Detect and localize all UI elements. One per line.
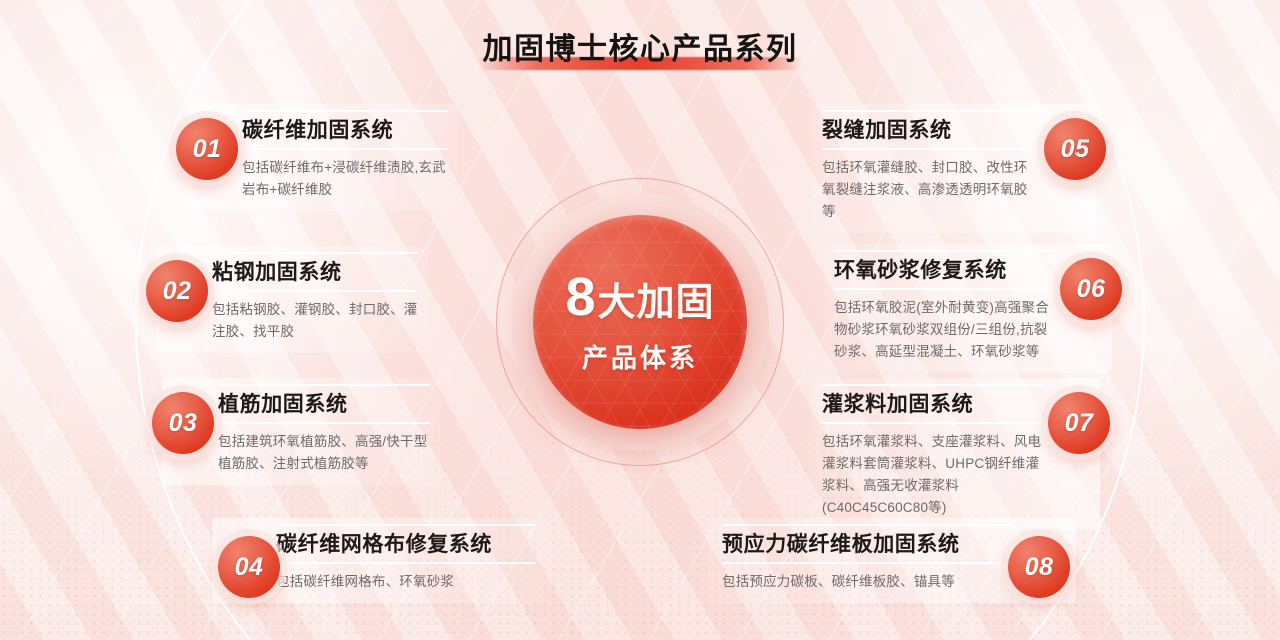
item-title: 环氧砂浆修复系统 <box>834 258 1056 283</box>
item-title: 碳纤维网格布修复系统 <box>276 532 536 557</box>
medallion-headline: 8 大加固 <box>565 270 714 324</box>
product-item-07[interactable]: 07 灌浆料加固系统 包括环氧灌浆料、支座灌浆料、风电灌浆料套筒灌浆料、UHPC… <box>812 378 1100 529</box>
product-item-08[interactable]: 08 预应力碳纤维板加固系统 包括预应力碳板、碳纤维板胶、锚具等 <box>706 518 1076 603</box>
item-description: 包括环氧灌缝胶、封口胶、改性环氧裂缝注浆液、高渗透透明环氧胶等 <box>822 157 1040 223</box>
item-divider-top <box>822 110 1040 112</box>
item-divider-bottom <box>822 148 1040 150</box>
infographic-canvas: 加固博士核心产品系列 8 大加固 产品体系 01 碳纤维加固系统 包括碳纤维布+… <box>0 0 1280 640</box>
page-title: 加固博士核心产品系列 <box>475 24 806 72</box>
item-title: 植筋加固系统 <box>218 392 430 417</box>
item-description: 包括预应力碳板、碳纤维板胶、锚具等 <box>722 571 1012 593</box>
product-item-01[interactable]: 01 碳纤维加固系统 包括碳纤维布+浸碳纤维渍胶,玄武岩布+碳纤维胶 <box>186 104 458 211</box>
item-title: 预应力碳纤维板加固系统 <box>722 532 1012 557</box>
item-number-badge: 02 <box>146 260 208 322</box>
item-divider-bottom <box>276 562 536 564</box>
item-divider-bottom <box>722 562 1012 564</box>
page-title-text: 加固博士核心产品系列 <box>483 33 798 66</box>
item-number-badge: 03 <box>152 392 214 454</box>
medallion-count: 8 <box>565 270 596 324</box>
item-divider-bottom <box>218 422 430 424</box>
medallion-disc: 8 大加固 产品体系 <box>533 215 747 429</box>
item-divider-top <box>276 524 536 526</box>
item-divider-top <box>218 384 430 386</box>
medallion-headline-text: 大加固 <box>598 284 715 322</box>
page-title-container: 加固博士核心产品系列 <box>0 24 1280 72</box>
product-item-06[interactable]: 06 环氧砂浆修复系统 包括环氧胶泥(室外耐黄变)高强聚合物砂浆环氧砂浆双组份/… <box>824 244 1112 373</box>
item-divider-top <box>722 524 1012 526</box>
item-divider-top <box>822 384 1044 386</box>
item-description: 包括环氧胶泥(室外耐黄变)高强聚合物砂浆环氧砂浆双组份/三组份,抗裂砂浆、高延型… <box>834 297 1056 363</box>
item-number-badge: 07 <box>1048 392 1110 454</box>
item-divider-bottom <box>242 148 448 150</box>
item-description: 包括碳纤维网格布、环氧砂浆 <box>276 571 536 593</box>
item-divider-bottom <box>212 290 418 292</box>
item-number-badge: 01 <box>176 118 238 180</box>
item-divider-bottom <box>822 422 1044 424</box>
product-item-02[interactable]: 02 粘钢加固系统 包括粘钢胶、灌钢胶、封口胶、灌注胶、找平胶 <box>156 246 428 353</box>
item-divider-top <box>242 110 448 112</box>
item-title: 灌浆料加固系统 <box>822 392 1044 417</box>
medallion-subline: 产品体系 <box>582 338 698 375</box>
item-number-badge: 06 <box>1060 258 1122 320</box>
item-divider-top <box>212 252 418 254</box>
item-title: 碳纤维加固系统 <box>242 118 448 143</box>
item-divider-bottom <box>834 288 1056 290</box>
product-item-04[interactable]: 04 碳纤维网格布修复系统 包括碳纤维网格布、环氧砂浆 <box>212 518 552 603</box>
item-description: 包括碳纤维布+浸碳纤维渍胶,玄武岩布+碳纤维胶 <box>242 157 448 201</box>
item-description: 包括粘钢胶、灌钢胶、封口胶、灌注胶、找平胶 <box>212 299 418 343</box>
item-number-badge: 05 <box>1044 118 1106 180</box>
item-title: 裂缝加固系统 <box>822 118 1040 143</box>
product-item-05[interactable]: 05 裂缝加固系统 包括环氧灌缝胶、封口胶、改性环氧裂缝注浆液、高渗透透明环氧胶… <box>812 104 1096 233</box>
item-title: 粘钢加固系统 <box>212 260 418 285</box>
item-description: 包括建筑环氧植筋胶、高强/快干型植筋胶、注射式植筋胶等 <box>218 431 430 475</box>
item-number-badge: 04 <box>218 536 280 598</box>
item-number-badge: 08 <box>1008 536 1070 598</box>
item-description: 包括环氧灌浆料、支座灌浆料、风电灌浆料套筒灌浆料、UHPC钢纤维灌浆料、高强无收… <box>822 431 1044 518</box>
item-divider-top <box>834 250 1056 252</box>
product-item-03[interactable]: 03 植筋加固系统 包括建筑环氧植筋胶、高强/快干型植筋胶、注射式植筋胶等 <box>162 378 440 485</box>
